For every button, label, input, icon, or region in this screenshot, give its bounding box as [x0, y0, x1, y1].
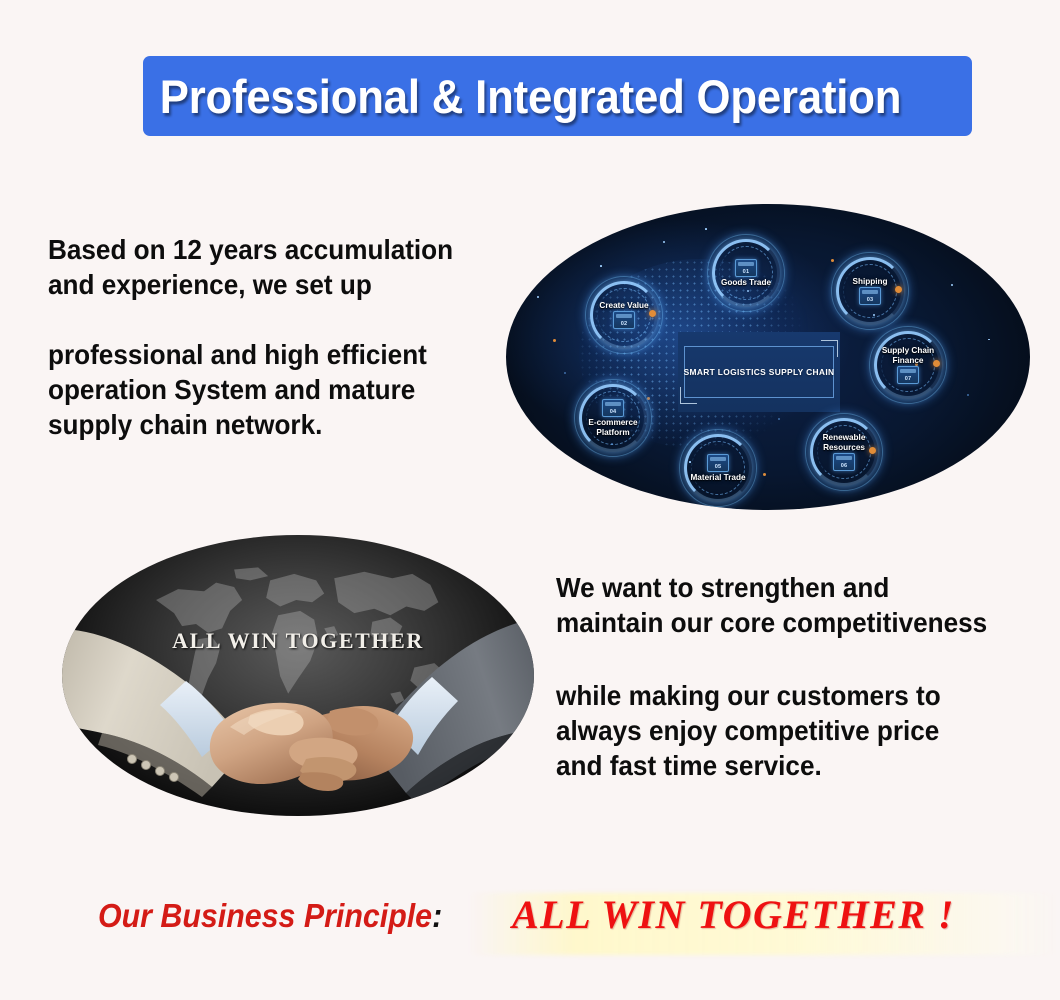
node-number: 01: [743, 269, 750, 276]
principle-colon: :: [432, 897, 442, 934]
right-paragraph-2: while making our customers to always enj…: [556, 678, 1031, 784]
center-panel-inner: SMART LOGISTICS SUPPLY CHAIN: [684, 346, 834, 398]
node-badge-icon: 06: [833, 453, 855, 471]
diagram-node-renewable-resources: Renewable Resources 06: [805, 413, 883, 491]
left-paragraph-1: Based on 12 years accumulation and exper…: [48, 232, 495, 302]
node-label: Supply Chain Finance: [882, 346, 934, 364]
node-number: 02: [621, 321, 628, 328]
node-badge-icon: 02: [613, 311, 635, 329]
node-label: Goods Trade: [721, 278, 771, 287]
node-badge-icon: 03: [859, 287, 881, 305]
diagram-node-ecommerce-platform: E-commerce Platform 04: [574, 379, 652, 457]
node-badge-icon: 01: [735, 259, 757, 277]
diagram-node-supply-chain-finance: Supply Chain Finance 07: [869, 326, 947, 404]
diagram-node-shipping: Shipping 03: [831, 252, 909, 330]
node-badge-icon: 04: [602, 399, 624, 417]
smart-logistics-diagram: SMART LOGISTICS SUPPLY CHAIN Goods Trade…: [506, 204, 1030, 510]
node-badge-icon: 07: [897, 366, 919, 384]
handshake-image: ALL WIN TOGETHER: [62, 535, 534, 816]
left-paragraph-2: professional and high efficient operatio…: [48, 337, 495, 443]
node-number: 07: [905, 376, 912, 383]
title-banner: Professional & Integrated Operation: [143, 56, 972, 136]
principle-label: Our Business Principle:: [98, 897, 442, 935]
poster-canvas: Professional & Integrated Operation Base…: [0, 0, 1060, 1000]
node-number: 04: [610, 409, 617, 416]
diagram-node-create-value: Create Value 02: [585, 276, 663, 354]
node-number: 03: [867, 297, 874, 304]
center-panel-label: SMART LOGISTICS SUPPLY CHAIN: [684, 367, 835, 377]
node-label: Shipping: [852, 277, 887, 286]
principle-label-text: Our Business Principle: [98, 897, 432, 934]
node-label: Material Trade: [690, 473, 745, 482]
node-number: 06: [841, 463, 848, 470]
node-label: Create Value: [599, 301, 648, 310]
node-label: E-commerce Platform: [588, 418, 637, 436]
corner-bracket-bottom-left-icon: [680, 387, 697, 404]
principle-slogan: ALL WIN TOGETHER !: [512, 891, 955, 938]
handshake-illustration: [62, 535, 534, 816]
corner-bracket-top-right-icon: [821, 340, 838, 357]
node-badge-icon: 05: [707, 454, 729, 472]
diagram-node-material-trade: Material Trade 05: [679, 429, 757, 507]
handshake-overlay-title: ALL WIN TOGETHER: [62, 628, 534, 654]
center-panel: SMART LOGISTICS SUPPLY CHAIN: [678, 332, 840, 412]
right-paragraph-1: We want to strengthen and maintain our c…: [556, 570, 1031, 640]
diagram-node-goods-trade: Goods Trade 01: [707, 234, 785, 312]
node-number: 05: [715, 464, 722, 471]
business-principle-line: Our Business Principle: ALL WIN TOGETHER…: [0, 893, 1060, 955]
page-title: Professional & Integrated Operation: [143, 69, 901, 124]
node-label: Renewable Resources: [823, 433, 866, 451]
